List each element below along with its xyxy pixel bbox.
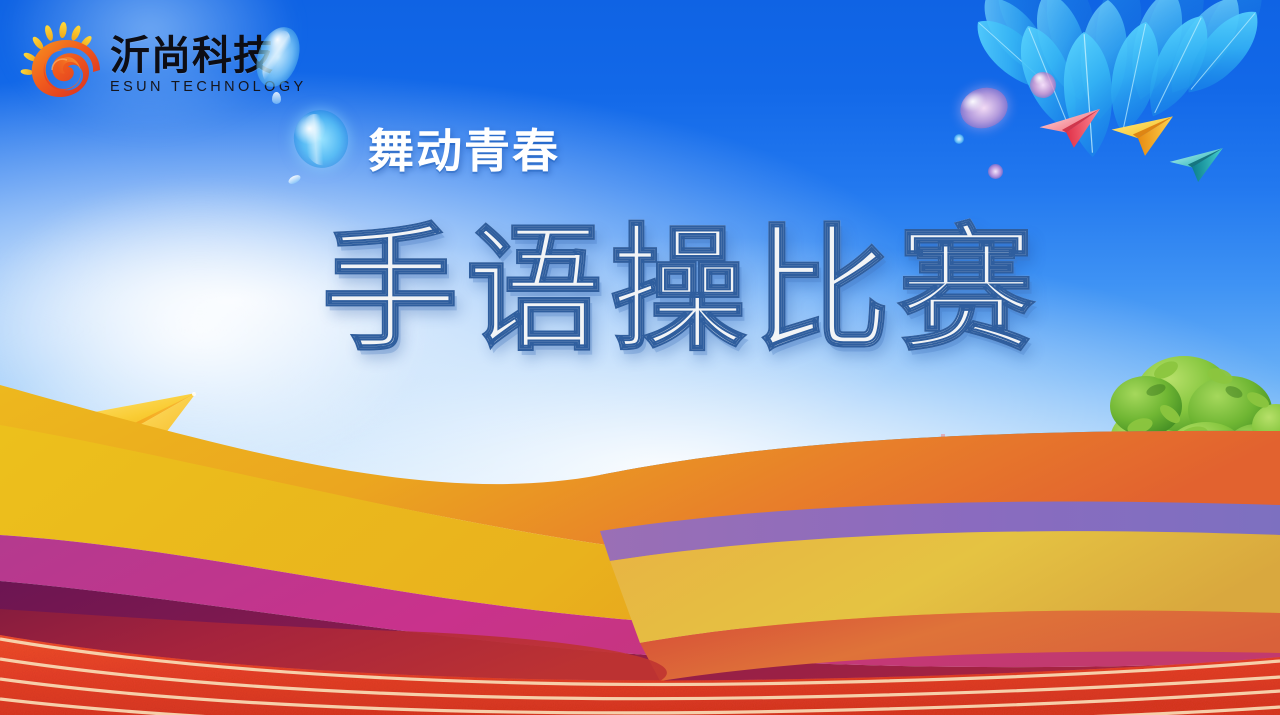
poster-canvas: 沂尚科技 ESUN TECHNOLOGY 舞动青春 手语操比赛 bbox=[0, 0, 1280, 715]
ground-waves bbox=[0, 385, 1280, 715]
sun-swirl-logo-icon bbox=[22, 24, 104, 102]
poster-title-text: 手语操比赛 bbox=[322, 212, 1042, 370]
logo-decor-drop-icon bbox=[272, 92, 281, 104]
poster-subtitle: 舞动青春 bbox=[368, 128, 560, 174]
paper-plane-red-icon bbox=[1036, 107, 1106, 154]
pink-ball-tiny-icon bbox=[988, 164, 1003, 179]
paper-plane-teal-icon bbox=[1167, 146, 1227, 186]
blue-ball-tiny-icon bbox=[954, 134, 964, 144]
poster-title: 手语操比赛 bbox=[322, 218, 1042, 365]
company-name-cn: 沂尚科技 bbox=[110, 36, 307, 76]
